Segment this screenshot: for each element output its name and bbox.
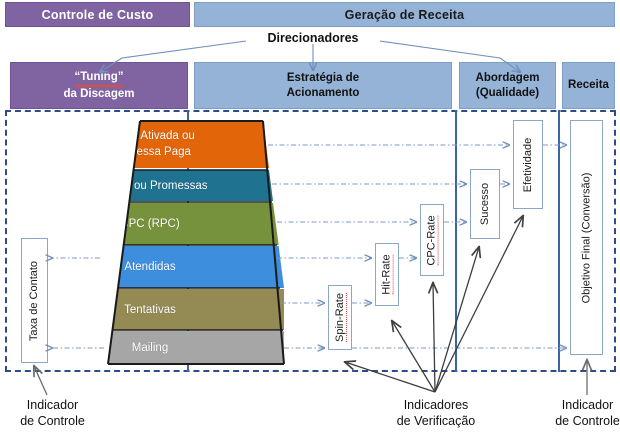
box-sucesso-label: Sucesso — [479, 183, 491, 225]
box-objetivo-final-label: Objetivo Final (Conversão) — [581, 172, 593, 303]
banner-controle-de-custo: Controle de Custo — [5, 2, 190, 27]
column-header-tuning-line2: da Discagem — [64, 87, 135, 102]
diagram-canvas: Controle de Custo Geração de Receita Dir… — [0, 0, 620, 438]
divider-abordagem-receita — [558, 110, 560, 372]
banner-geracao-de-receita: Geração de Receita — [194, 2, 615, 27]
pyramid-layer-tentativas-label: Tentativas — [124, 304, 176, 316]
column-header-receita-line1: Receita — [568, 78, 609, 93]
box-sucesso[interactable]: Sucesso — [470, 169, 500, 239]
banner-geracao-de-receita-label: Geração de Receita — [345, 8, 465, 22]
pyramid-layer-cpc-rpc-label: CPC (RPC) — [120, 218, 179, 230]
box-cpc-rate-label: CPC-Rate — [426, 215, 439, 265]
box-taxa-de-contato-label: Taxa de Contato — [29, 260, 41, 340]
divider-estrategia-abordagem — [455, 110, 457, 372]
caption-left-line1: Indicador — [0, 397, 105, 413]
pyramid-layer-mailing: Mailing — [16, 331, 284, 364]
pyramid-layer-mailing-label: Mailing — [132, 342, 168, 354]
caption-center-line1: Indicadores — [370, 397, 502, 413]
column-header-estrategia: Estratégia de Acionamento — [194, 62, 452, 109]
box-spin-rate-label: Spin-Rate — [334, 293, 347, 342]
pyramid-layer-atendidas-label: Atendidas — [124, 261, 175, 273]
column-header-tuning: “Tuning” da Discagem — [10, 62, 188, 109]
box-efetividade[interactable]: Efetividade — [513, 120, 543, 209]
pyramid-layer-tentativas: Tentativas — [16, 289, 284, 330]
caption-indicadores-de-verificacao: Indicadores de Verificação — [370, 397, 502, 429]
funnel-pyramid: Venda Ativada ou Promessa Paga Vendas ou… — [16, 120, 284, 364]
pyramid-layer-venda-ativada-label2: Promessa Paga — [109, 144, 191, 160]
drivers-label: Direcionadores — [248, 31, 378, 48]
caption-right-line1: Indicador — [535, 397, 620, 413]
column-header-estrategia-line1: Estratégia de — [287, 71, 359, 86]
caption-center-line2: de Verificação — [370, 413, 502, 429]
banner-controle-de-custo-label: Controle de Custo — [42, 8, 154, 22]
caption-indicador-de-controle-left: Indicador de Controle — [0, 397, 105, 429]
column-header-abordagem: Abordagem (Qualidade) — [459, 62, 556, 109]
caption-right-line2: de Controle — [535, 413, 620, 429]
box-objetivo-final[interactable]: Objetivo Final (Conversão) — [570, 120, 603, 355]
pyramid-layer-vendas-promessas: Vendas ou Promessas — [16, 170, 284, 201]
box-hit-rate[interactable]: Hit-Rate — [375, 243, 399, 306]
column-header-tuning-line1: “Tuning” — [75, 70, 124, 87]
box-spin-rate[interactable]: Spin-Rate — [328, 285, 352, 350]
column-header-receita: Receita — [562, 62, 615, 109]
pyramid-layer-cpc-rpc: CPC (RPC) — [16, 203, 284, 245]
box-taxa-de-contato[interactable]: Taxa de Contato — [21, 238, 48, 363]
pyramid-layer-vendas-promessas-label: Vendas ou Promessas — [92, 180, 207, 192]
column-header-estrategia-line2: Acionamento — [287, 86, 360, 101]
box-efetividade-label: Efetividade — [522, 137, 534, 191]
pyramid-layer-atendidas: Atendidas — [16, 246, 284, 288]
box-cpc-rate[interactable]: CPC-Rate — [420, 204, 444, 276]
pyramid-layer-venda-ativada: Venda Ativada ou Promessa Paga — [16, 120, 284, 168]
caption-left-line2: de Controle — [0, 413, 105, 429]
box-hit-rate-label: Hit-Rate — [381, 254, 394, 294]
column-header-abordagem-line1: Abordagem — [476, 71, 540, 86]
pyramid-layer-venda-ativada-label1: Venda Ativada ou — [105, 128, 195, 144]
caption-indicador-de-controle-right: Indicador de Controle — [535, 397, 620, 429]
column-header-abordagem-line2: (Qualidade) — [476, 86, 539, 101]
